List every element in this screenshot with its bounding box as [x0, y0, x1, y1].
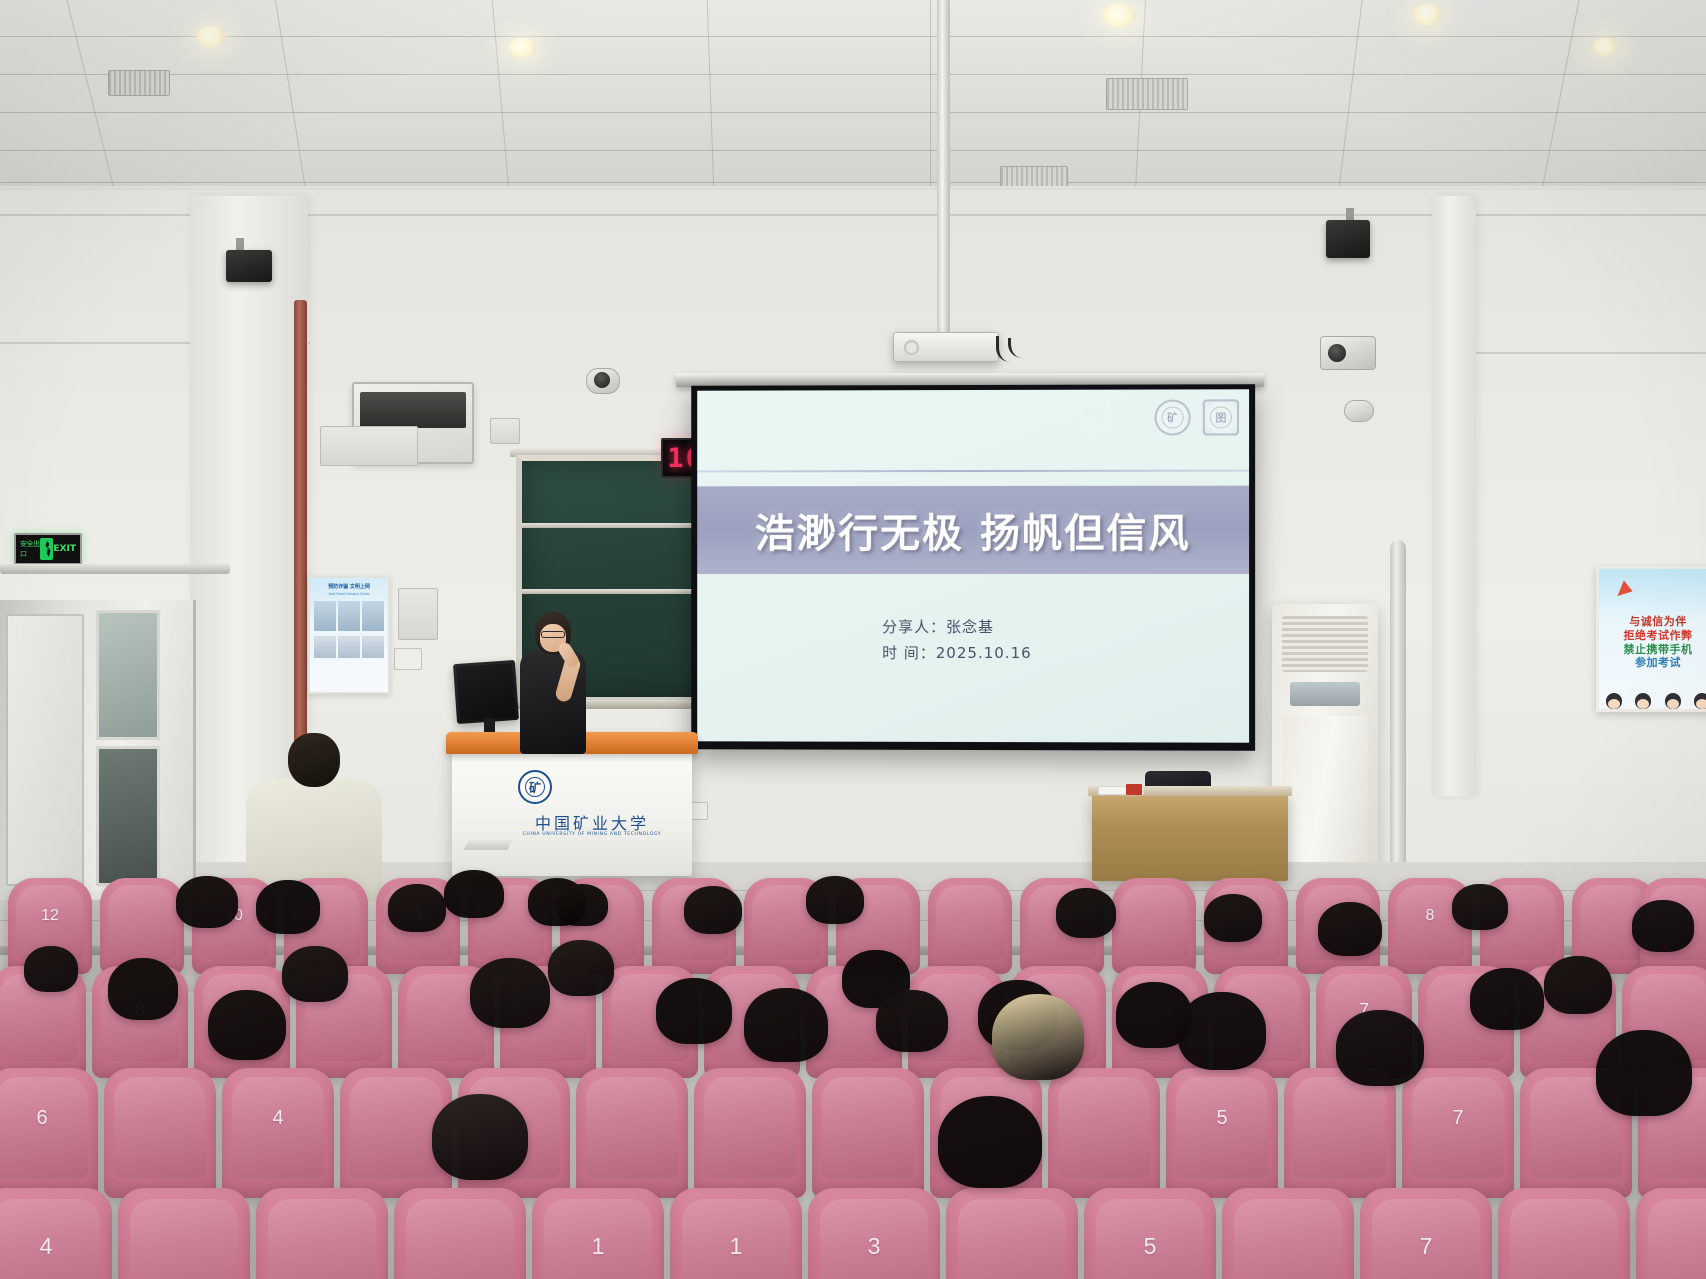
university-logo-glyph: 矿 [525, 777, 545, 797]
projector-mount-pole [937, 0, 950, 338]
auditorium-seat[interactable] [1048, 1068, 1160, 1198]
auditorium-seat[interactable]: 5 [1084, 1188, 1216, 1279]
auditorium-seat[interactable] [930, 1068, 1042, 1198]
presenter-person [516, 612, 590, 762]
ceiling-vent [108, 70, 170, 96]
auditorium-seat[interactable] [118, 1188, 250, 1279]
auditorium-seat[interactable] [1296, 878, 1380, 974]
poster-right-line-1: 与诚信为伴 [1599, 615, 1706, 629]
slide-divider [697, 470, 1249, 473]
podium-keyboard[interactable] [464, 840, 513, 850]
auditorium-seat[interactable] [0, 966, 86, 1078]
auditorium-seat[interactable] [928, 878, 1012, 974]
auditorium-seat[interactable] [652, 878, 736, 974]
auditorium-seat[interactable] [836, 878, 920, 974]
seat-number: 12 [8, 907, 92, 925]
auditorium-seat[interactable]: 5 [1020, 878, 1104, 974]
auditorium-seat[interactable]: 4 [0, 1188, 112, 1279]
motion-sensor [1344, 400, 1374, 422]
auditorium-seat[interactable] [394, 1188, 526, 1279]
wall-junction-box [320, 426, 418, 466]
ceiling-tile-grid [0, 0, 1706, 200]
auditorium-seat[interactable] [560, 878, 644, 974]
university-seal-icon: 矿 [1154, 399, 1190, 435]
side-table [1092, 793, 1288, 881]
camera-lens-icon [594, 372, 610, 388]
ac-vent-grill [1282, 616, 1368, 672]
auditorium-seat[interactable] [458, 1068, 570, 1198]
door-panel[interactable] [6, 614, 84, 886]
auditorium-seat[interactable] [1520, 1068, 1632, 1198]
auditorium-seat[interactable] [1222, 1188, 1354, 1279]
ceiling-light [1412, 4, 1442, 26]
auditorium-seat[interactable] [744, 878, 828, 974]
auditorium-seat[interactable]: 8 [376, 878, 460, 974]
auditorium-seat[interactable]: 1 [532, 1188, 664, 1279]
slide-presenter: 分享人：张念基 [882, 614, 1032, 640]
slide-title-band: 浩渺行无极 扬帆但信风 [697, 486, 1249, 574]
door-window [96, 610, 160, 740]
wall-column-right [1432, 196, 1476, 796]
auditorium-seat[interactable] [602, 966, 698, 1078]
wall-switch-panel[interactable] [490, 418, 520, 444]
poster-right-text: 与诚信为伴 拒绝考试作弊 禁止携带手机 参加考试 [1599, 615, 1706, 670]
running-man-icon [40, 538, 54, 560]
ceiling-vent [1106, 78, 1188, 110]
lectern-podium: 矿 中国矿业大学 CHINA UNIVERSITY OF MINING AND … [452, 744, 692, 876]
auditorium-seat[interactable] [812, 1068, 924, 1198]
glasses-icon [541, 631, 565, 638]
auditorium-seat[interactable]: 8 [92, 966, 188, 1078]
podium-brand-en: CHINA UNIVERSITY OF MINING AND TECHNOLOG… [512, 832, 672, 837]
slide-metadata: 分享人：张念基 时 间：2025.10.16 [882, 614, 1032, 667]
lecture-hall-photo: 安全出口 EXIT 预防诈骗 文明上网 Anti-Fraud Campus Gu… [0, 0, 1706, 1279]
seat-number: 7 [1360, 1233, 1492, 1260]
auditorium-seat[interactable] [694, 1068, 806, 1198]
poster-left-photo-row-2 [314, 636, 384, 658]
auditorium-seat[interactable] [284, 878, 368, 974]
auditorium-seat[interactable] [340, 1068, 452, 1198]
university-seal-glyph: 矿 [1161, 406, 1183, 428]
seat-number: 5 [1166, 1107, 1278, 1130]
slide-date: 时 间：2025.10.16 [882, 640, 1032, 666]
auditorium-seat[interactable] [468, 878, 552, 974]
wall-speaker-right [1326, 220, 1370, 258]
poster-right-line-2: 拒绝考试作弊 [1599, 629, 1706, 643]
wall-seam [1440, 352, 1706, 354]
auditorium-seat[interactable] [1284, 1068, 1396, 1198]
auditorium-seat[interactable] [1498, 1188, 1630, 1279]
podium-brand-cn: 中国矿业大学 [512, 810, 672, 834]
seat-number: 5 [1020, 907, 1104, 925]
auditorium-seat[interactable] [256, 1188, 388, 1279]
wall-speaker-left [226, 250, 272, 282]
poster-left-title: 预防诈骗 文明上网 [314, 584, 384, 591]
standing-person-head [288, 733, 340, 787]
seat-number: 1 [670, 1233, 802, 1260]
av-box-display [360, 392, 466, 428]
poster-left-photo-row [314, 601, 384, 631]
seat-number: 1 [532, 1233, 664, 1260]
projector-lens-icon [904, 340, 919, 355]
poster-left-subtitle: Anti-Fraud Campus Guide [314, 592, 384, 596]
poster-right-line-3: 禁止携带手机 [1599, 643, 1706, 657]
poster-right-characters [1599, 681, 1706, 709]
university-logo-icon: 矿 [518, 770, 552, 804]
library-seal-icon: 图 [1203, 399, 1239, 435]
auditorium-seat[interactable]: 10 [192, 878, 276, 974]
auditorium-seat[interactable] [100, 878, 184, 974]
seat-number: 10 [192, 907, 276, 925]
auditorium-seat[interactable] [1640, 878, 1706, 974]
ceiling-light [196, 26, 226, 48]
seat-number: 3 [808, 1233, 940, 1260]
seat-number: 8 [92, 1000, 188, 1021]
seat-number: 5 [1084, 1233, 1216, 1260]
wall-handrail [0, 564, 230, 574]
auditorium-seat[interactable]: 1 [670, 1188, 802, 1279]
ceiling-light [508, 38, 536, 58]
door-lower-panel [96, 746, 160, 886]
auditorium-seat[interactable] [194, 966, 290, 1078]
podium-monitor [453, 660, 519, 724]
presentation-slide: 矿 图 浩渺行无极 扬帆但信风 分享人：张念基 时 间：2025.10.16 [697, 389, 1249, 742]
poster-exam-integrity: 与诚信为伴 拒绝考试作弊 禁止携带手机 参加考试 [1596, 566, 1706, 712]
auditorium-seat[interactable]: 3 [808, 1188, 940, 1279]
auditorium-seat[interactable]: 7 [1360, 1188, 1492, 1279]
auditorium-seat[interactable]: 5 [1010, 966, 1106, 1078]
auditorium-seat[interactable] [296, 966, 392, 1078]
auditorium-seat[interactable]: 6 [0, 1068, 98, 1198]
auditorium-seat[interactable] [500, 966, 596, 1078]
projection-screen: 矿 图 浩渺行无极 扬帆但信风 分享人：张念基 时 间：2025.10.16 [691, 384, 1255, 751]
poster-right-sky [1599, 569, 1706, 621]
auditorium-seat[interactable]: 5 [1166, 1068, 1278, 1198]
seat-number: 7 [1316, 1000, 1412, 1021]
auditorium-seat[interactable] [1636, 1188, 1706, 1279]
auditorium-seat[interactable] [806, 966, 902, 1078]
exit-sign-label-cn: 安全出口 [20, 539, 40, 559]
seat-number: 6 [0, 1107, 98, 1130]
camera-lens-icon [1328, 344, 1346, 362]
auditorium-seat[interactable] [1112, 878, 1196, 974]
auditorium-seat[interactable]: 12 [8, 878, 92, 974]
poster-right-line-4: 参加考试 [1599, 656, 1706, 670]
library-seal-glyph: 图 [1210, 406, 1232, 428]
auditorium-seat[interactable] [104, 1068, 216, 1198]
ceiling [0, 0, 1706, 200]
auditorium-seat[interactable] [1638, 1068, 1706, 1198]
poster-anti-fraud: 预防诈骗 文明上网 Anti-Fraud Campus Guide [308, 576, 390, 694]
slide-logo-group: 矿 图 [1154, 399, 1239, 435]
ceiling-light [1592, 38, 1618, 56]
seat-number: 7 [1402, 1107, 1514, 1130]
auditorium-seat[interactable] [398, 966, 494, 1078]
red-standpipe [294, 300, 307, 800]
auditorium-seat[interactable] [946, 1188, 1078, 1279]
auditorium-seat[interactable] [1204, 878, 1288, 974]
seat-number: 4 [0, 1233, 112, 1260]
wall-control-panel[interactable] [398, 588, 438, 640]
ac-control-panel[interactable] [1290, 682, 1360, 706]
auditorium-seat[interactable]: 8 [1388, 878, 1472, 974]
auditorium-seat[interactable]: 4 [222, 1068, 334, 1198]
auditorium-seat[interactable]: 7 [1402, 1068, 1514, 1198]
exit-sign-label-en: EXIT [53, 544, 76, 554]
auditorium-seat[interactable]: 7 [1316, 966, 1412, 1078]
auditorium-seat[interactable] [1622, 966, 1706, 1078]
auditorium-seat[interactable] [1480, 878, 1564, 974]
slide-title: 浩渺行无极 扬帆但信风 [755, 501, 1191, 559]
seat-number: 8 [376, 907, 460, 925]
emergency-exit-sign: 安全出口 EXIT [14, 533, 82, 565]
auditorium-seat[interactable] [1214, 966, 1310, 1078]
ceiling-light [1102, 4, 1136, 28]
audience-seating: 12108588576457411357 [0, 870, 1706, 1279]
auditorium-seat[interactable] [1112, 966, 1208, 1078]
ceiling-projector [893, 332, 999, 362]
side-doorway[interactable] [0, 600, 196, 900]
seat-number: 8 [1388, 907, 1472, 925]
red-folder [1126, 784, 1142, 795]
wall-outlet[interactable] [394, 648, 422, 670]
monitor-screen [456, 663, 516, 721]
auditorium-seat[interactable] [576, 1068, 688, 1198]
auditorium-seat[interactable] [704, 966, 800, 1078]
auditorium-seat[interactable] [908, 966, 1004, 1078]
auditorium-seat[interactable] [1418, 966, 1514, 1078]
seat-number: 5 [1010, 1000, 1106, 1021]
auditorium-seat[interactable] [1520, 966, 1616, 1078]
seat-number: 4 [222, 1107, 334, 1130]
